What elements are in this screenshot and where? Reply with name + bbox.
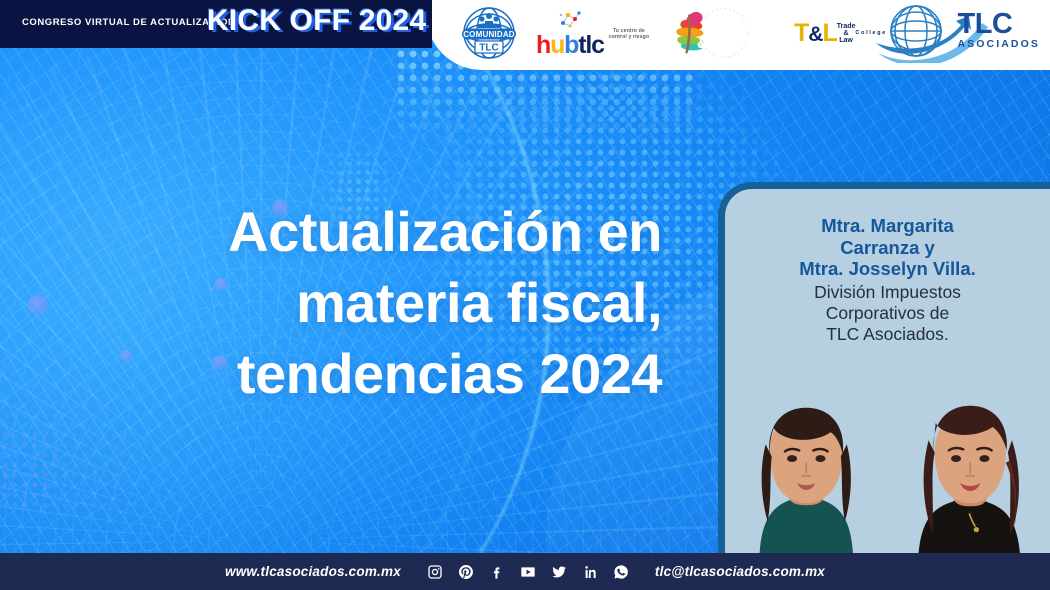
- logo-trade-law-customs: TRADE LAW & CUSTOMS magazine: [668, 8, 780, 58]
- instagram-icon[interactable]: [427, 564, 443, 580]
- facebook-icon[interactable]: [489, 564, 505, 580]
- speaker-role: División Impuestos Corporativos de TLC A…: [725, 280, 1050, 345]
- tl-monogram: T&L: [794, 21, 837, 46]
- speaker-card: Mtra. Margarita Carranza y Mtra. Jossely…: [718, 182, 1050, 554]
- speaker-name-line-2: Carranza y: [741, 237, 1034, 259]
- hubtlc-network-mark: [559, 9, 581, 29]
- tl-college-name: Trade & Law: [837, 23, 856, 44]
- svg-text:& CUSTOMS: & CUSTOMS: [697, 35, 780, 52]
- linkedin-icon[interactable]: [582, 564, 598, 580]
- social-links: [427, 564, 629, 580]
- speaker-photos: [725, 394, 1050, 554]
- speaker-role-line-1: División Impuestos: [741, 282, 1034, 303]
- title-line-1: Actualización en: [62, 196, 662, 267]
- footer-bar: www.tlcasociados.com.mx tlc@tlcasociados…: [0, 553, 1050, 590]
- logo-comunidad-tlc: COMUNIDAD TLC: [456, 4, 522, 62]
- logo-tlc-asociados: TLC ASOCIADOS: [870, 3, 1042, 63]
- speaker-role-line-2: Corporativos de: [741, 303, 1034, 324]
- kickoff-banner: CONGRESO VIRTUAL DE ACTUALIZACIÓN KICK O…: [0, 0, 1050, 590]
- title-line-3: tendencias 2024: [62, 338, 662, 409]
- header-kicker: CONGRESO VIRTUAL DE ACTUALIZACIÓN: [22, 17, 235, 28]
- twitter-icon[interactable]: [551, 564, 567, 580]
- title-line-2: materia fiscal,: [62, 267, 662, 338]
- speaker-names: Mtra. Margarita Carranza y Mtra. Jossely…: [725, 189, 1050, 280]
- svg-text:TLC: TLC: [479, 42, 498, 53]
- speaker-photo-right: [888, 394, 1050, 554]
- speaker-name-line-3: Mtra. Josselyn Villa.: [741, 258, 1034, 280]
- speaker-role-line-3: TLC Asociados.: [741, 324, 1034, 345]
- header-event-title: KICK OFF 2024: [207, 4, 426, 38]
- tlc-asociados-sub: ASOCIADOS: [958, 38, 1041, 50]
- hubtlc-tagline: Tu centro de control y riesgo: [604, 28, 654, 40]
- network-node: [28, 295, 48, 315]
- footer-email[interactable]: tlc@tlcasociados.com.mx: [655, 564, 825, 579]
- logo-trade-law-college: T&L Trade & Law College: [794, 21, 856, 46]
- speaker-photo-left: [725, 394, 888, 554]
- svg-text:magazine: magazine: [770, 19, 777, 49]
- footer-website[interactable]: www.tlcasociados.com.mx: [225, 564, 401, 579]
- tlc-asociados-wordmark: TLC ASOCIADOS: [958, 11, 1041, 50]
- hubtlc-wordmark: hubtlc: [536, 31, 604, 59]
- speaker-name-line-1: Mtra. Margarita: [741, 215, 1034, 237]
- whatsapp-icon[interactable]: [613, 564, 629, 580]
- pinterest-icon[interactable]: [458, 564, 474, 580]
- youtube-icon[interactable]: [520, 564, 536, 580]
- tlc-asociados-main: TLC: [958, 11, 1041, 38]
- logo-row: COMUNIDAD TLC: [440, 0, 1050, 70]
- svg-text:COMUNIDAD: COMUNIDAD: [463, 30, 515, 39]
- logo-hubtlc: hubtlc Tu centro de control y riesgo: [536, 9, 654, 58]
- page-title: Actualización en materia fiscal, tendenc…: [62, 196, 662, 409]
